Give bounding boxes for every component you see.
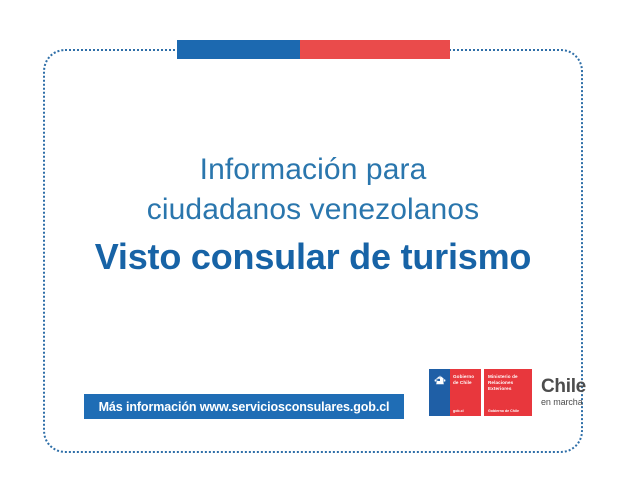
ministerio-logo-footer: Gobierno de Chile <box>488 409 519 413</box>
ministerio-relaciones-exteriores-logo: Ministerio de Relaciones Exteriores Gobi… <box>484 369 532 416</box>
gobierno-logo-footer: gob.cl <box>453 409 464 413</box>
government-logo-lockup: Gobierno de Chile gob.cl Ministerio de R… <box>429 369 586 416</box>
gobierno-logo-text-line-2: de Chile <box>453 380 474 386</box>
more-information-text: Más información www.serviciosconsulares.… <box>99 400 390 414</box>
gobierno-logo-text-line-1: Gobierno <box>453 374 474 380</box>
flag-bar-blue-segment <box>177 40 300 59</box>
gobierno-logo-text: Gobierno de Chile <box>453 374 474 385</box>
headline-line-1: Información para <box>43 150 583 190</box>
headline-line-2: ciudadanos venezolanos <box>43 190 583 230</box>
poster-canvas: Información para ciudadanos venezolanos … <box>0 0 630 500</box>
headline-block: Información para ciudadanos venezolanos … <box>43 150 583 281</box>
chile-flag-bar <box>177 40 450 59</box>
chile-en-marcha-word: Chile <box>541 377 586 396</box>
gobierno-logo-blue-panel <box>429 369 450 416</box>
flag-bar-red-segment <box>300 40 450 59</box>
more-information-banner[interactable]: Más información www.serviciosconsulares.… <box>84 394 404 419</box>
ministerio-logo-text: Ministerio de Relaciones Exteriores <box>488 374 518 392</box>
gobierno-de-chile-logo: Gobierno de Chile gob.cl <box>429 369 481 416</box>
chile-coat-of-arms-icon <box>433 374 446 386</box>
chile-en-marcha-logo: Chile en marcha <box>539 369 586 416</box>
gobierno-logo-red-panel: Gobierno de Chile gob.cl <box>450 369 481 416</box>
headline-title: Visto consular de turismo <box>43 234 583 281</box>
chile-en-marcha-subtitle: en marcha <box>541 397 586 408</box>
ministerio-logo-text-line-3: Exteriores <box>488 386 518 392</box>
